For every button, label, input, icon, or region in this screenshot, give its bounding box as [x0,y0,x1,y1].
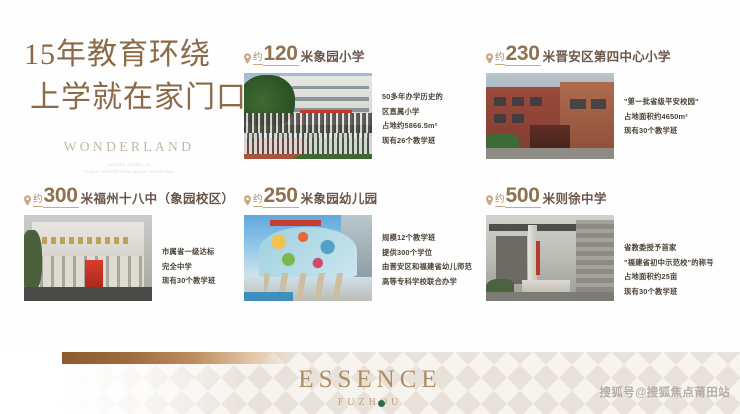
card-3-fact-1: 市属省一级达标 [162,245,216,260]
card-5-header: 约 500 米则徐中学 [486,186,714,208]
photo-art [486,215,614,301]
school-card-4[interactable]: 约 250 米象园幼儿园 规模12个教学班 提供300个学位 由晋安区和福建省幼… [244,186,472,301]
card-2-fact-1: "第一批省级平安校园" [624,95,699,110]
card-4-fact-3: 由晋安区和福建省幼儿师范 [382,260,472,275]
location-pin-icon [486,53,493,64]
hero-english-word: WONDERLAND [24,139,234,155]
card-1-body: 50多年办学历史的 区直属小学 占地约5866.5m² 现有26个教学班 [244,73,443,159]
card-2-fact-3: 现有30个教学班 [624,124,699,139]
card-3-photo [24,215,152,301]
card-1-fact-3: 占地约5866.5m² [382,119,443,134]
card-2-fact-2: 占地面积约4650m² [624,110,699,125]
card-3-approx-label: 约 [33,191,43,207]
card-5-distance: 500 [505,186,541,208]
card-4-body: 规模12个教学班 提供300个学位 由晋安区和福建省幼儿师范 高等专科学校联合办… [244,215,472,301]
photo-ground [486,148,614,159]
card-2-facts: "第一批省级平安校园" 占地面积约4650m² 现有30个教学班 [624,73,699,159]
card-4-distance: 250 [263,186,299,208]
brand-subtitle-wrap: FUZHOU [338,397,403,408]
school-card-5[interactable]: 约 500 米则徐中学 省教委授予首家 "福建省初中示范校"的称号 [486,186,714,301]
card-4-school-name: 米象园幼儿园 [301,188,378,207]
card-5-approx-label: 约 [495,191,505,207]
school-card-1[interactable]: 约 120 米象园小学 50多年办学历史的 [244,44,443,159]
card-2-distance: 230 [505,44,541,66]
photo-side-tree [24,230,42,290]
card-4-photo [244,215,372,301]
photo-stone-wall [576,220,614,301]
card-3-distance: 300 [43,186,79,208]
card-2-body: "第一批省级平安校园" 占地面积约4650m² 现有30个教学班 [486,73,699,159]
card-5-fact-1: 省教委授予首家 [624,241,714,256]
card-4-fact-2: 提供300个学位 [382,246,472,261]
photo-art [244,73,372,159]
school-card-2[interactable]: 约 230 米晋安区第四中心小学 [486,44,699,159]
card-2-school-name: 米晋安区第四中心小学 [543,46,671,65]
card-4-header: 约 250 米象园幼儿园 [244,186,472,208]
card-3-school-name: 米福州十八中（象园校区） [81,188,235,207]
photo-ground [486,292,614,301]
card-4-fact-4: 高等专科学校联合办学 [382,275,472,290]
hero-headline-line1: 15年教育环绕 [24,34,234,77]
photo-red-column [536,241,540,275]
school-card-3[interactable]: 约 300 米福州十八中（象园校区） 市属省一级达标 完全中学 现有30个教学班 [24,186,234,301]
photo-foreground [24,287,152,301]
card-1-fact-2: 区直属小学 [382,105,443,120]
photo-art [24,215,152,301]
card-3-fact-3: 现有30个教学班 [162,274,216,289]
card-4-approx-label: 约 [253,191,263,207]
location-pin-icon [486,195,493,206]
card-5-fact-4: 现有30个教学班 [624,285,714,300]
card-4-fact-1: 规模12个教学班 [382,231,472,246]
card-1-fact-1: 50多年办学历史的 [382,90,443,105]
card-1-header: 约 120 米象园小学 [244,44,443,66]
card-1-fact-4: 现有26个教学班 [382,134,443,149]
card-5-school-name: 米则徐中学 [543,188,607,207]
card-1-approx-label: 约 [253,49,263,65]
photo-pool [244,292,293,301]
hero-subtext-line1: Juanxin qianhu su [24,161,234,168]
card-3-header: 约 300 米福州十八中（象园校区） [24,186,234,208]
poster-page: 15年教育环绕 上学就在家门口 WONDERLAND Juanxin qianh… [0,0,740,414]
photo-art [486,73,614,159]
hero-subtext-line2: Yuduo meililife bulangyuan wonderlan [24,168,234,175]
footer-copper-bar [62,352,294,364]
card-3-fact-2: 完全中学 [162,260,216,275]
photo-art [244,215,372,301]
photo-gold-characters [42,237,132,244]
card-1-facts: 50多年办学历史的 区直属小学 占地约5866.5m² 现有26个教学班 [382,73,443,159]
card-5-fact-2: "福建省初中示范校"的称号 [624,256,714,271]
card-2-header: 约 230 米晋安区第四中心小学 [486,44,699,66]
location-pin-icon [244,195,251,206]
card-5-body: 省教委授予首家 "福建省初中示范校"的称号 占地面积约25亩 现有30个教学班 [486,215,714,301]
brand-subtitle: FUZHOU [338,397,403,408]
card-2-approx-label: 约 [495,49,505,65]
location-pin-icon [24,195,31,206]
photo-glass-facade [259,227,356,277]
photo-red-banner [85,260,103,289]
photo-red-sign [270,220,321,226]
card-3-body: 市属省一级达标 完全中学 现有30个教学班 [24,215,234,301]
card-5-photo [486,215,614,301]
hero-subtext: Juanxin qianhu su Yuduo meililife bulang… [24,161,234,176]
card-1-school-name: 米象园小学 [301,46,365,65]
watermark-text: 搜狐号@搜狐焦点莆田站 [599,384,730,400]
photo-crowd-front [244,133,372,154]
hero-headline-line2: 上学就在家门口 [24,77,234,120]
card-3-facts: 市属省一级达标 完全中学 现有30个教学班 [162,215,216,301]
photo-inner-court [496,236,527,284]
card-2-photo [486,73,614,159]
card-1-distance: 120 [263,44,299,66]
hero-block: 15年教育环绕 上学就在家门口 WONDERLAND Juanxin qianh… [24,34,234,176]
card-4-facts: 规模12个教学班 提供300个学位 由晋安区和福建省幼儿师范 高等专科学校联合办… [382,215,472,301]
card-1-photo [244,73,372,159]
card-5-fact-3: 占地面积约25亩 [624,270,714,285]
card-5-facts: 省教委授予首家 "福建省初中示范校"的称号 占地面积约25亩 现有30个教学班 [624,215,714,301]
location-pin-icon [244,53,251,64]
